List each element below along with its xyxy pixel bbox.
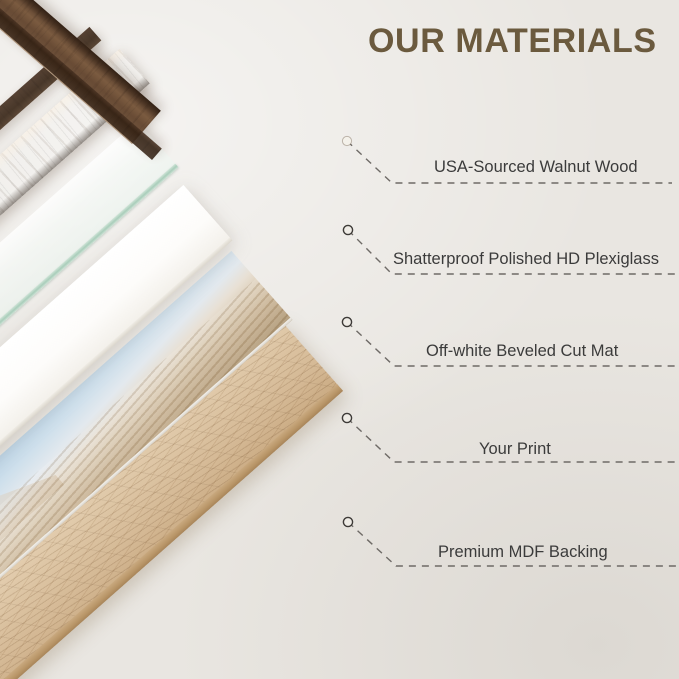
infographic-canvas: OUR MATERIALS USA-Sourced Walnut WoodSha… [0, 0, 679, 679]
page-title: OUR MATERIALS [368, 22, 657, 61]
material-layer-stack [0, 0, 679, 679]
